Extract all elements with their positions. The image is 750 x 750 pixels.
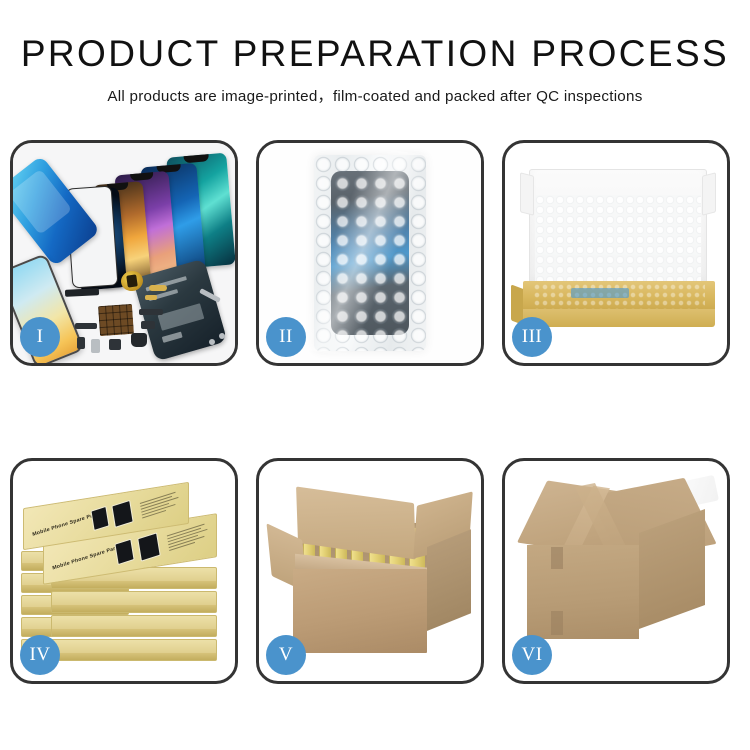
- speaker-part: [131, 333, 147, 347]
- carton-right-face: [427, 529, 471, 631]
- page-title: PRODUCT PREPARATION PROCESS: [0, 34, 750, 73]
- carton-front-face: [293, 569, 427, 653]
- step-panel-2[interactable]: II: [256, 140, 484, 366]
- small-part: [91, 339, 100, 353]
- box-label: Mobile Phone Spare Parts: [52, 544, 121, 571]
- chip-array-part: [98, 304, 134, 336]
- page-subtitle: All products are image-printed，film-coat…: [0, 84, 750, 106]
- step-badge-2: II: [266, 317, 306, 357]
- foam-padding: [535, 195, 701, 281]
- header: PRODUCT PREPARATION PROCESS All products…: [0, 0, 750, 106]
- stacked-box: [51, 615, 217, 637]
- carton-seam-top: [551, 547, 563, 569]
- carton-front-face: [527, 545, 639, 639]
- carton-seam-bottom: [551, 611, 563, 635]
- steps-grid: I II III: [10, 140, 740, 684]
- step-panel-4[interactable]: Mobile Phone Spare Parts Mobile Phone Sp…: [10, 458, 238, 684]
- step-panel-6[interactable]: VI: [502, 458, 730, 684]
- step-badge-3: III: [512, 317, 552, 357]
- box-screen-image: [90, 506, 109, 531]
- screw-part: [219, 333, 225, 339]
- plastic-gloss: [281, 143, 459, 363]
- box-screen-image: [111, 500, 133, 528]
- small-part: [139, 309, 163, 315]
- screw-part: [209, 339, 215, 345]
- wrapped-contents: [533, 283, 705, 309]
- step-badge-6: VI: [512, 635, 552, 675]
- step-panel-1[interactable]: I: [10, 140, 238, 366]
- small-part: [145, 295, 157, 300]
- step-badge-5: V: [266, 635, 306, 675]
- step-badge-4: IV: [20, 635, 60, 675]
- step-panel-5[interactable]: V: [256, 458, 484, 684]
- small-part: [149, 285, 167, 291]
- box-spec-lines: [167, 522, 211, 552]
- box-screen-image: [137, 532, 161, 561]
- stacked-box: [51, 591, 217, 613]
- step-badge-1: I: [20, 317, 60, 357]
- small-part: [75, 323, 97, 329]
- box-spec-lines: [140, 490, 184, 520]
- box-screen-image: [114, 539, 134, 566]
- small-part: [141, 321, 155, 329]
- product-preparation-infographic: PRODUCT PREPARATION PROCESS All products…: [0, 0, 750, 750]
- step-panel-3[interactable]: III: [502, 140, 730, 366]
- stacked-box: [51, 639, 217, 661]
- small-part: [77, 337, 85, 349]
- box-front: [523, 309, 715, 327]
- small-part: [109, 339, 121, 350]
